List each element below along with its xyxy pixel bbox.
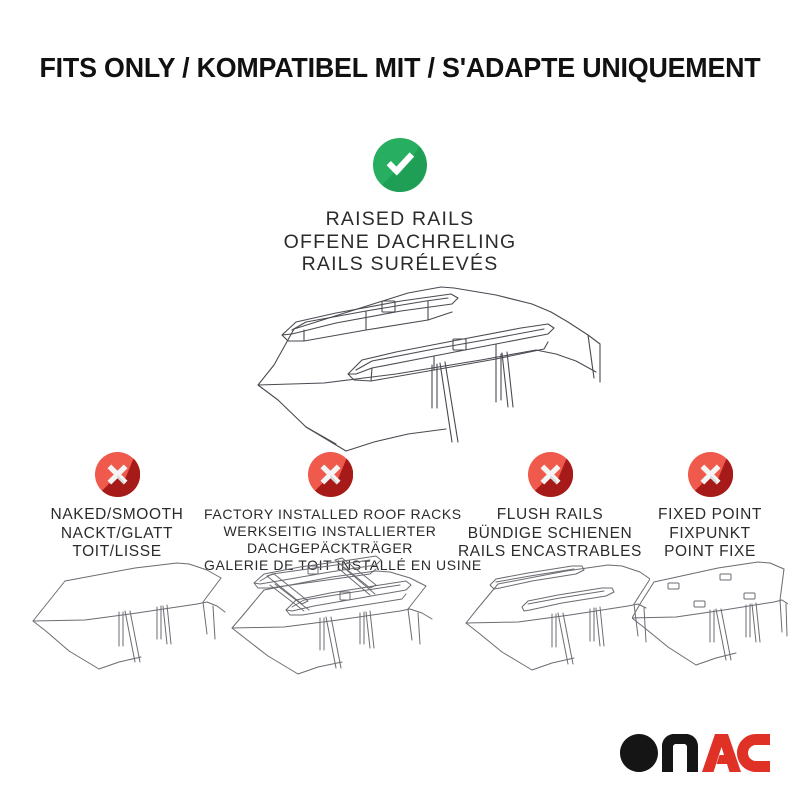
label-line-de: FIXPUNKT bbox=[632, 525, 788, 544]
header: FITS ONLY / KOMPATIBEL MIT / S'ADAPTE UN… bbox=[0, 52, 800, 84]
compatible-label-fr: RAILS SURÉLEVÉS bbox=[0, 253, 800, 276]
label-line-de-1: WERKSEITIG INSTALLIERTER bbox=[204, 523, 456, 540]
label-line-de: BÜNDIGE SCHIENEN bbox=[450, 525, 650, 544]
compatible-label-de: OFFENE DACHRELING bbox=[0, 231, 800, 254]
compatible-labels: RAISED RAILS OFFENE DACHRELING RAILS SUR… bbox=[0, 208, 800, 276]
incompatible-item-naked-smooth: NAKED/SMOOTH NACKT/GLATT TOIT/LISSE bbox=[7, 452, 227, 562]
car-roof-factory-rack-illustration bbox=[204, 548, 456, 678]
car-roof-naked-smooth-illustration bbox=[7, 554, 227, 674]
label-line-en: NAKED/SMOOTH bbox=[7, 506, 227, 525]
compatible-section: RAISED RAILS OFFENE DACHRELING RAILS SUR… bbox=[0, 138, 800, 276]
incompatible-item-factory-rack: FACTORY INSTALLED ROOF RACKS WERKSEITIG … bbox=[204, 452, 456, 574]
incompatible-section: NAKED/SMOOTH NACKT/GLATT TOIT/LISSE bbox=[0, 452, 800, 692]
incompatible-item-fixed-point: FIXED POINT FIXPUNKT POINT FIXE bbox=[632, 452, 788, 562]
car-roof-flush-rails-illustration bbox=[450, 554, 650, 674]
car-roof-raised-rails-illustration bbox=[196, 282, 606, 452]
label-line-en: FLUSH RAILS bbox=[450, 506, 650, 525]
green-check-circle-icon bbox=[373, 138, 427, 192]
incompatible-item-flush-rails: FLUSH RAILS BÜNDIGE SCHIENEN RAILS ENCAS… bbox=[450, 452, 650, 562]
page-title: FITS ONLY / KOMPATIBEL MIT / S'ADAPTE UN… bbox=[10, 52, 790, 84]
label-line-en: FIXED POINT bbox=[632, 506, 788, 525]
label-line-en: FACTORY INSTALLED ROOF RACKS bbox=[204, 506, 456, 523]
compatible-label-en: RAISED RAILS bbox=[0, 208, 800, 231]
omac-logo bbox=[620, 734, 770, 772]
red-x-circle-icon bbox=[95, 452, 140, 497]
red-x-circle-icon bbox=[688, 452, 733, 497]
red-x-circle-icon bbox=[308, 452, 353, 497]
car-roof-fixed-point-illustration bbox=[632, 548, 788, 673]
label-line-de: NACKT/GLATT bbox=[7, 525, 227, 544]
red-x-circle-icon bbox=[528, 452, 573, 497]
